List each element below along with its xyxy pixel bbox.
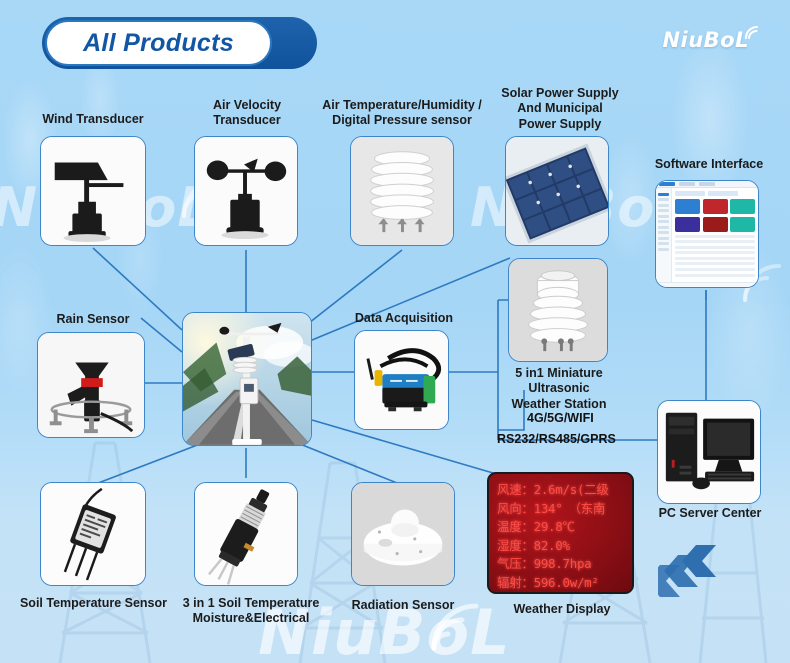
label-pc-server-center: PC Server Center bbox=[645, 506, 775, 521]
radiation-sensor-icon bbox=[352, 483, 454, 585]
card-air-velocity[interactable] bbox=[194, 136, 298, 246]
dashboard-footer bbox=[656, 282, 758, 287]
dashboard-tabbar bbox=[656, 181, 758, 188]
label-radiation-sensor: Radiation Sensor bbox=[338, 598, 468, 613]
sidebar-item[interactable] bbox=[658, 215, 669, 218]
table-row bbox=[675, 257, 755, 260]
brand-name: NiuBoL bbox=[662, 28, 749, 52]
weather-row-wind-dir: 风向：134° （东南 bbox=[497, 500, 632, 519]
label-rain-sensor: Rain Sensor bbox=[22, 312, 164, 327]
label-air-velocity: Air Velocity Transducer bbox=[185, 98, 309, 129]
dashboard-metric-tiles bbox=[675, 199, 755, 232]
label-software-interface: Software Interface bbox=[644, 157, 774, 172]
dashboard-main bbox=[672, 188, 758, 282]
dashboard-tile-6[interactable] bbox=[730, 217, 755, 232]
weather-row-wind-speed: 风速：2.6m/s(二级 bbox=[497, 481, 632, 500]
table-row bbox=[675, 274, 755, 277]
sidebar-item[interactable] bbox=[658, 242, 669, 245]
header-badge-inner: All Products bbox=[45, 20, 272, 66]
card-weather-display[interactable]: 风速：2.6m/s(二级 风向：134° （东南 温度：29.8℃ 湿度：82.… bbox=[487, 472, 634, 594]
card-air-temp-humidity[interactable] bbox=[350, 136, 454, 246]
card-software-interface[interactable] bbox=[655, 180, 759, 288]
solar-panel-icon bbox=[506, 137, 608, 245]
dashboard-tab-3[interactable] bbox=[699, 182, 715, 186]
sidebar-item[interactable] bbox=[658, 226, 669, 229]
card-five-in-one-station[interactable] bbox=[508, 258, 608, 362]
dashboard-tab-2[interactable] bbox=[679, 182, 695, 186]
pc-server-icon bbox=[658, 401, 760, 503]
rain-gauge-icon bbox=[38, 333, 144, 437]
data-logger-icon bbox=[355, 331, 448, 429]
table-row bbox=[675, 235, 755, 238]
sidebar-item[interactable] bbox=[658, 248, 669, 251]
page-title: All Products bbox=[83, 29, 234, 58]
dashboard-tile-1[interactable] bbox=[675, 199, 700, 214]
card-pc-server-center[interactable] bbox=[657, 400, 761, 504]
soil-temperature-sensor-icon bbox=[41, 483, 145, 585]
sidebar-item[interactable] bbox=[658, 237, 669, 240]
card-wind-transducer[interactable] bbox=[40, 136, 146, 246]
dashboard-tab-1[interactable] bbox=[659, 182, 675, 186]
weather-row-temperature: 温度：29.8℃ bbox=[497, 518, 632, 537]
table-row bbox=[675, 246, 755, 249]
label-data-acquisition: Data Acquisition bbox=[340, 311, 468, 326]
card-soil-3in1[interactable] bbox=[194, 482, 298, 586]
table-row bbox=[675, 240, 755, 243]
ultrasonic-weather-station-icon bbox=[509, 259, 607, 361]
dashboard-filterbar bbox=[675, 191, 755, 196]
sidebar-item[interactable] bbox=[658, 209, 669, 212]
card-soil-temperature[interactable] bbox=[40, 482, 146, 586]
anemometer-icon bbox=[195, 137, 297, 245]
header-badge: All Products bbox=[42, 17, 317, 69]
sidebar-item[interactable] bbox=[658, 193, 669, 196]
card-solar-power[interactable] bbox=[505, 136, 609, 246]
brand-logo: NiuBoL bbox=[662, 28, 762, 52]
label-solar-power: Solar Power Supply And Municipal Power S… bbox=[490, 86, 630, 132]
label-wind-transducer: Wind Transducer bbox=[22, 112, 164, 127]
label-five-in-one-station: 5 in1 Miniature Ultrasonic Weather Stati… bbox=[488, 366, 630, 412]
weather-row-pressure: 气压：998.7hpa bbox=[497, 555, 632, 574]
card-data-acquisition[interactable] bbox=[354, 330, 449, 430]
radiation-shield-sensor-icon bbox=[351, 137, 453, 245]
weather-row-humidity: 湿度：82.0% bbox=[497, 537, 632, 556]
sidebar-item[interactable] bbox=[658, 204, 669, 207]
label-soil-temperature: Soil Temperature Sensor bbox=[16, 596, 171, 611]
dashboard-body bbox=[656, 188, 758, 282]
infographic-canvas: NiuBoL NiuBoL NiuBoL bbox=[0, 0, 790, 663]
dashboard-tile-2[interactable] bbox=[703, 199, 728, 214]
card-rain-sensor[interactable] bbox=[37, 332, 145, 438]
label-network-wired: RS232/RS485/GPRS bbox=[497, 432, 616, 446]
wifi-signal-icon bbox=[742, 23, 762, 41]
soil-3in1-sensor-icon bbox=[195, 483, 297, 585]
card-radiation-sensor[interactable] bbox=[351, 482, 455, 586]
chevron-left-decoration-icon bbox=[658, 543, 768, 603]
software-dashboard bbox=[656, 181, 758, 287]
dashboard-tile-3[interactable] bbox=[730, 199, 755, 214]
sidebar-item[interactable] bbox=[658, 220, 669, 223]
weather-station-photo bbox=[183, 313, 311, 445]
label-network-wireless: 4G/5G/WIFI bbox=[527, 411, 594, 425]
sidebar-item[interactable] bbox=[658, 231, 669, 234]
card-weather-station-center[interactable] bbox=[182, 312, 312, 446]
wind-vane-icon bbox=[41, 137, 145, 245]
weather-row-radiation: 辐射：596.0w/m² bbox=[497, 574, 632, 593]
label-soil-3in1: 3 in 1 Soil Temperature Moisture&Electri… bbox=[176, 596, 326, 627]
table-row bbox=[675, 251, 755, 254]
dashboard-tile-4[interactable] bbox=[675, 217, 700, 232]
table-row bbox=[675, 262, 755, 265]
dashboard-table bbox=[675, 235, 755, 277]
dashboard-sidebar bbox=[656, 188, 672, 282]
label-weather-display: Weather Display bbox=[495, 602, 629, 617]
label-air-temp-humidity: Air Temperature/Humidity / Digital Press… bbox=[316, 98, 488, 129]
sidebar-item[interactable] bbox=[658, 198, 669, 201]
dashboard-tile-5[interactable] bbox=[703, 217, 728, 232]
table-row bbox=[675, 268, 755, 271]
